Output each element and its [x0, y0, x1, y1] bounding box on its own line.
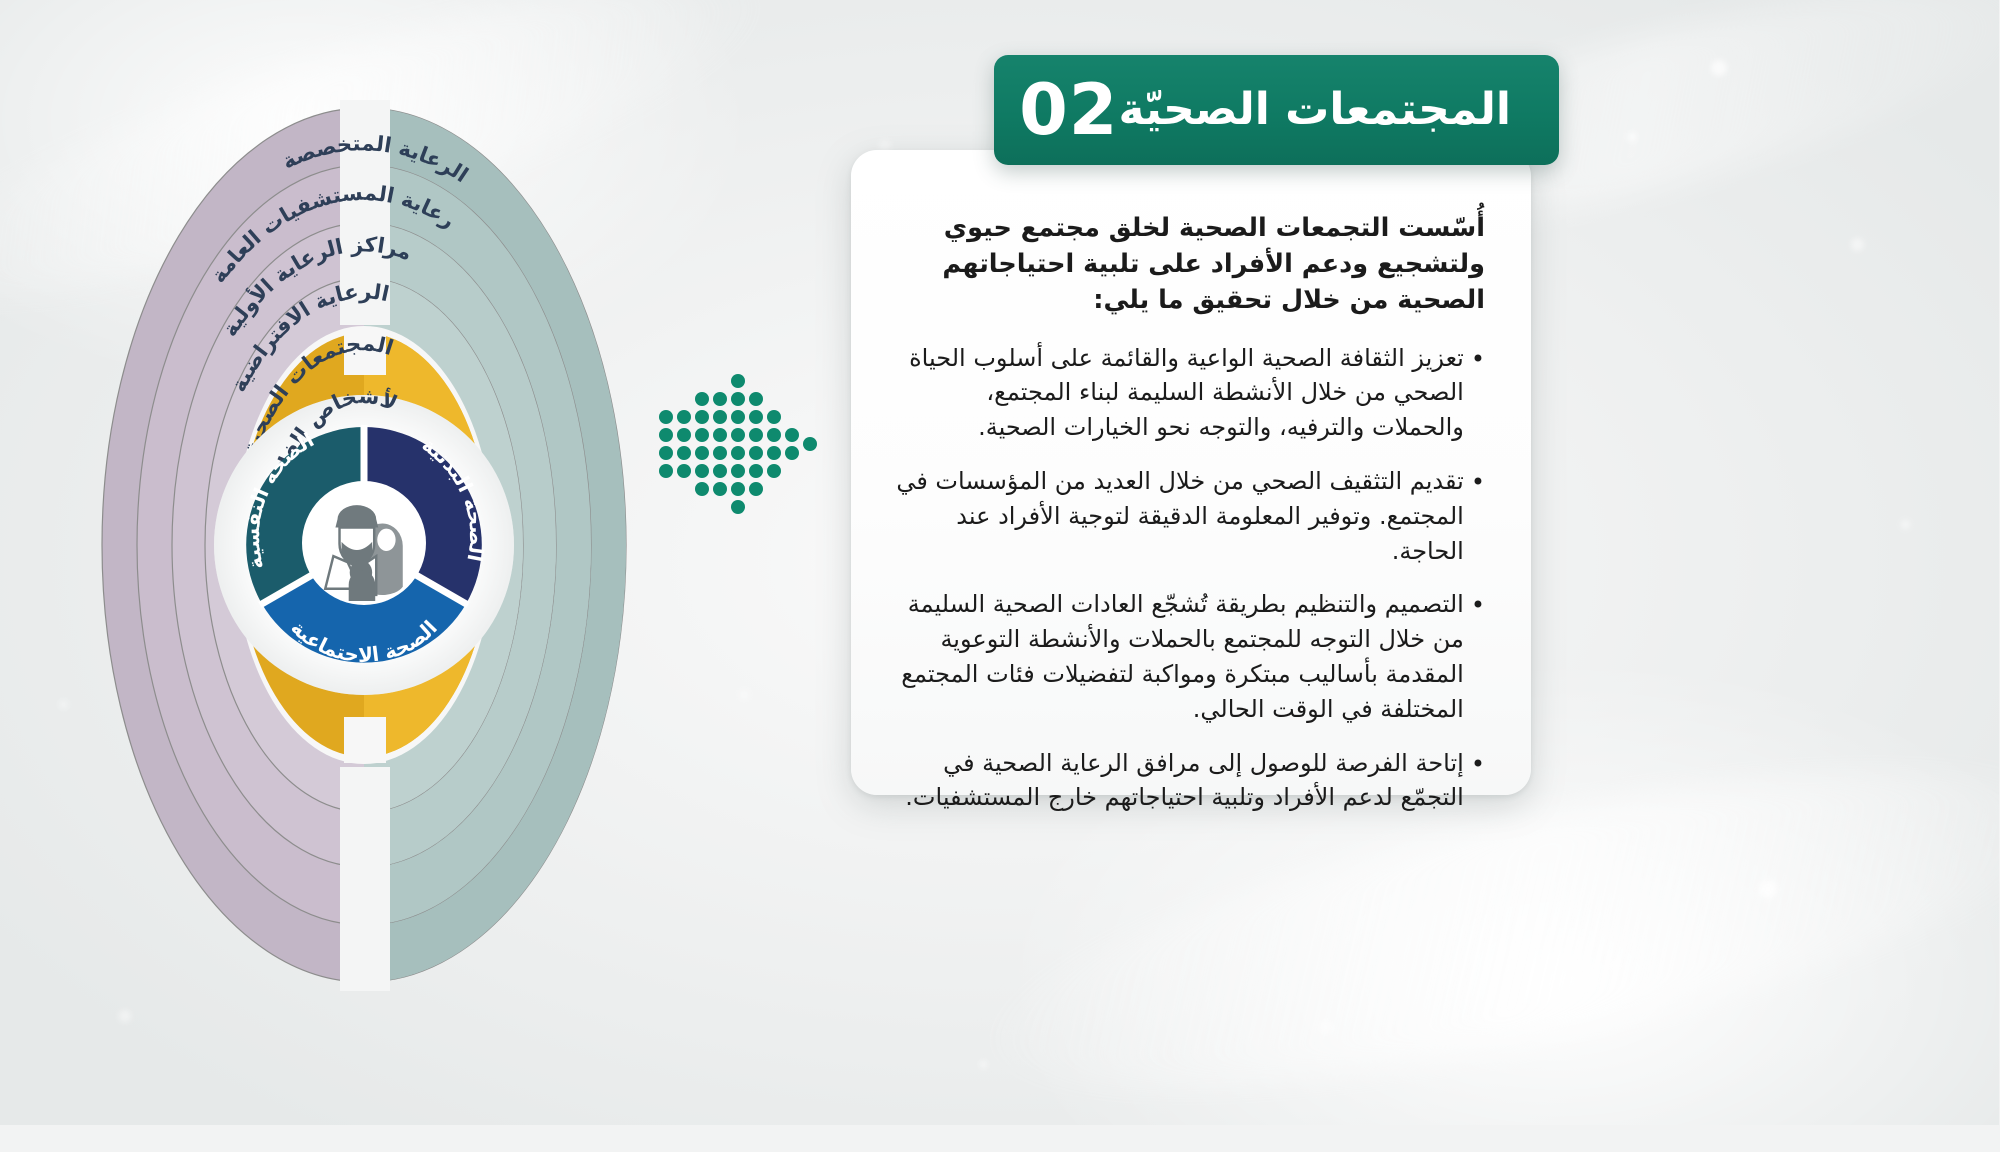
dotted-arrow-right-icon [655, 355, 835, 530]
section-number: 02 [1000, 75, 1119, 145]
concentric-rings-diagram: الرعاية المتخصصة رعاية المستشفيات العامة… [45, 45, 685, 1045]
bullet-marker-icon: • [1465, 464, 1486, 500]
bullet-text: إتاحة الفرصة للوصول إلى مرافق الرعاية ال… [892, 746, 1465, 816]
section-header-banner: المجتمعات الصحيّة 02 [995, 55, 1560, 165]
bullet-text: تقديم التثقيف الصحي من خلال العديد من ال… [892, 464, 1465, 568]
content-card: أُسّست التجمعات الصحية لخلق مجتمع حيوي و… [852, 150, 1532, 795]
bullet-item: • التصميم والتنظيم بطريقة تُشجّع العادات… [892, 587, 1486, 726]
intro-paragraph: أُسّست التجمعات الصحية لخلق مجتمع حيوي و… [892, 210, 1486, 319]
bullet-marker-icon: • [1465, 341, 1486, 377]
bullet-marker-icon: • [1465, 587, 1486, 623]
bullet-text: التصميم والتنظيم بطريقة تُشجّع العادات ا… [892, 587, 1465, 726]
bullet-item: • إتاحة الفرصة للوصول إلى مرافق الرعاية … [892, 746, 1486, 816]
bullet-item: • تقديم التثقيف الصحي من خلال العديد من … [892, 464, 1486, 568]
bullet-text: تعزيز الثقافة الصحية الواعية والقائمة عل… [892, 341, 1465, 445]
bullet-item: • تعزيز الثقافة الصحية الواعية والقائمة … [892, 341, 1486, 445]
section-title: المجتمعات الصحيّة [1120, 88, 1534, 132]
bullet-marker-icon: • [1465, 746, 1486, 782]
